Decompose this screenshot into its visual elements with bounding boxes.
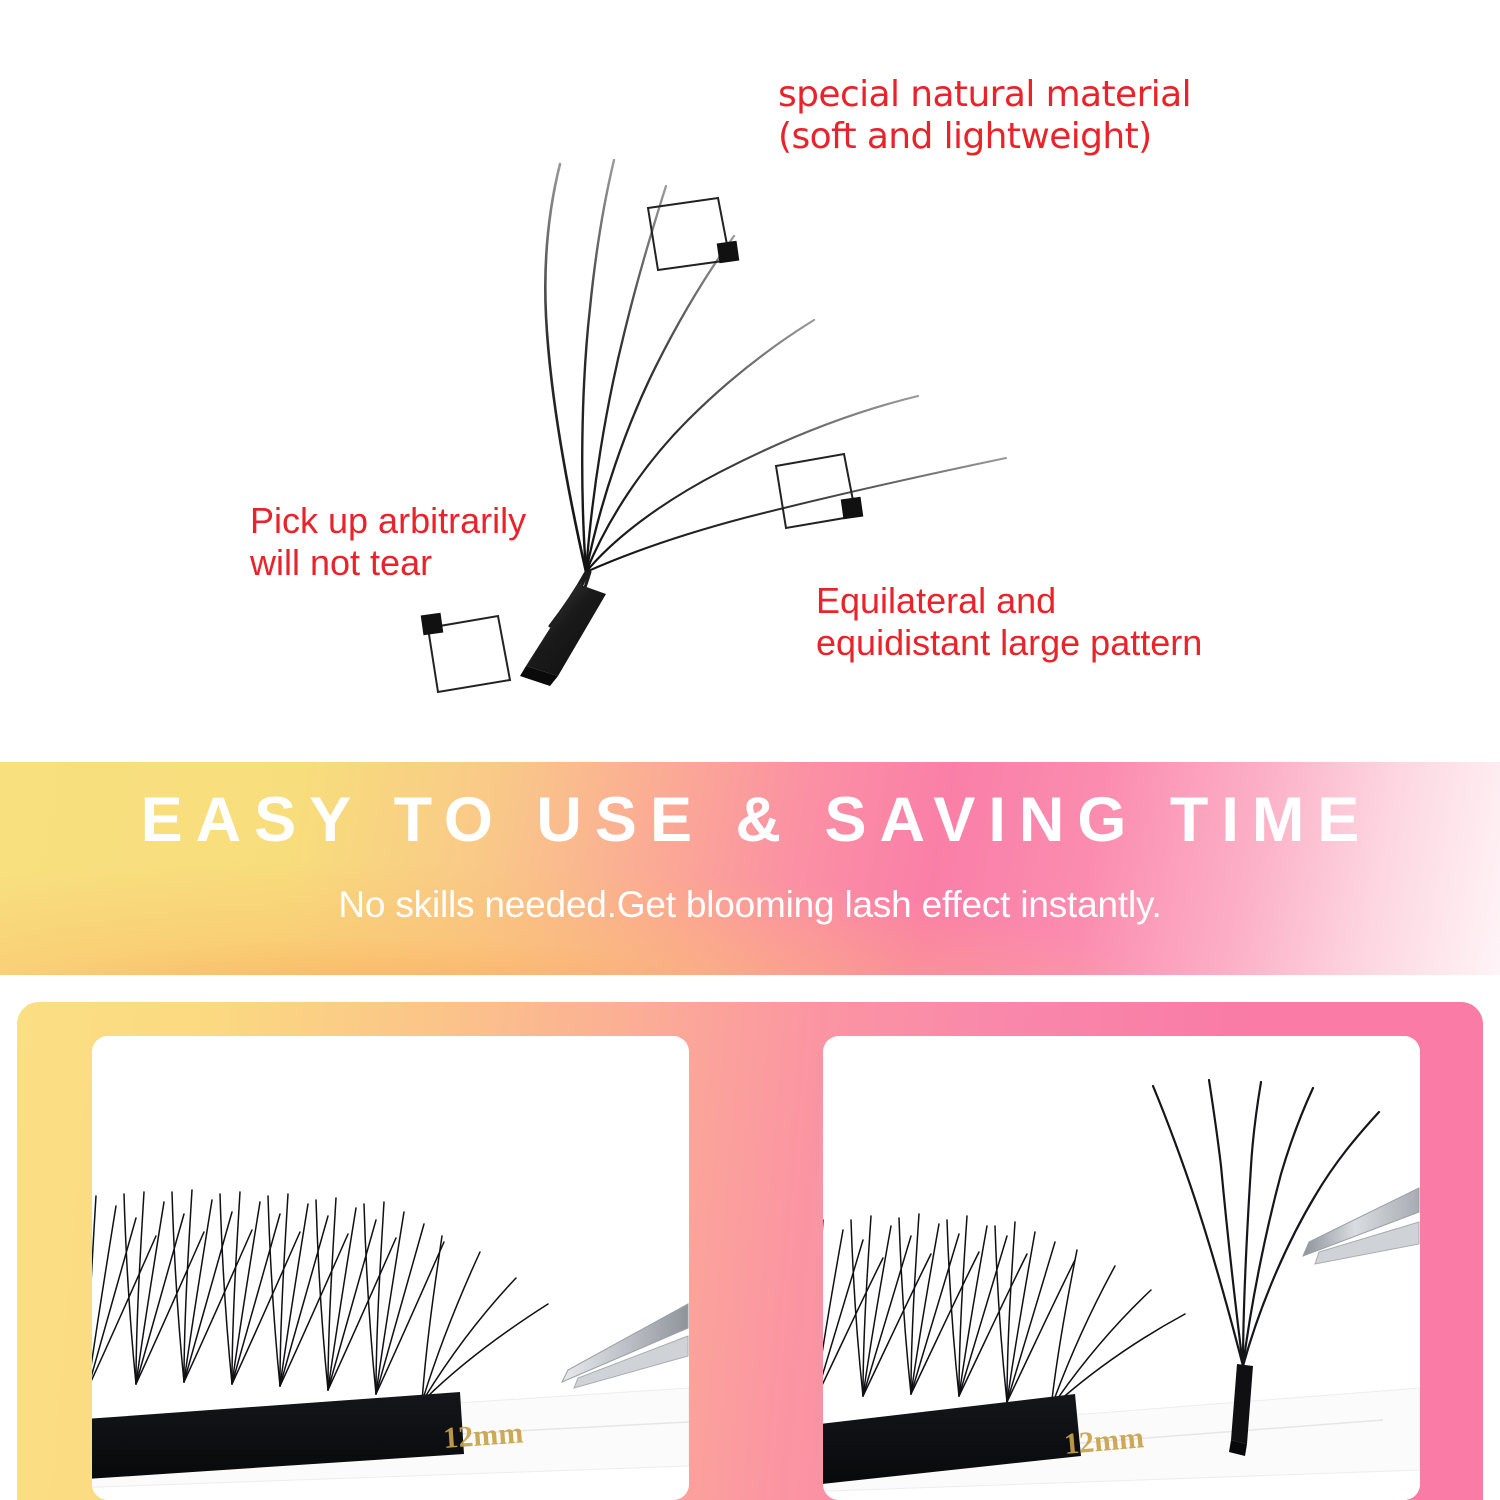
callout-pick-up-arbitrarily: Pick up arbitrarily will not tear (250, 500, 526, 584)
product-feature-diagram-section: special natural material (soft and light… (0, 0, 1500, 762)
banner-subtitle: No skills needed.Get blooming lash effec… (0, 884, 1500, 926)
product-photo-gallery-section: 12mm (0, 1002, 1500, 1500)
gallery-gradient-frame: 12mm (17, 1002, 1483, 1500)
easy-to-use-banner-section: EASY TO USE & SAVING TIME No skills need… (0, 762, 1500, 975)
photo-card-lash-tray-with-tweezers[interactable]: 12mm (92, 1036, 689, 1500)
photo-card-lash-fan-pickup[interactable]: 12mm (823, 1036, 1420, 1500)
tray-size-label-right: 12mm (1063, 1421, 1146, 1461)
banner-headline: EASY TO USE & SAVING TIME (0, 784, 1500, 856)
tray-size-label-left: 12mm (442, 1416, 524, 1454)
callout-equilateral-equidistant: Equilateral and equidistant large patter… (816, 580, 1202, 664)
callout-special-natural-material: special natural material (soft and light… (778, 74, 1191, 158)
